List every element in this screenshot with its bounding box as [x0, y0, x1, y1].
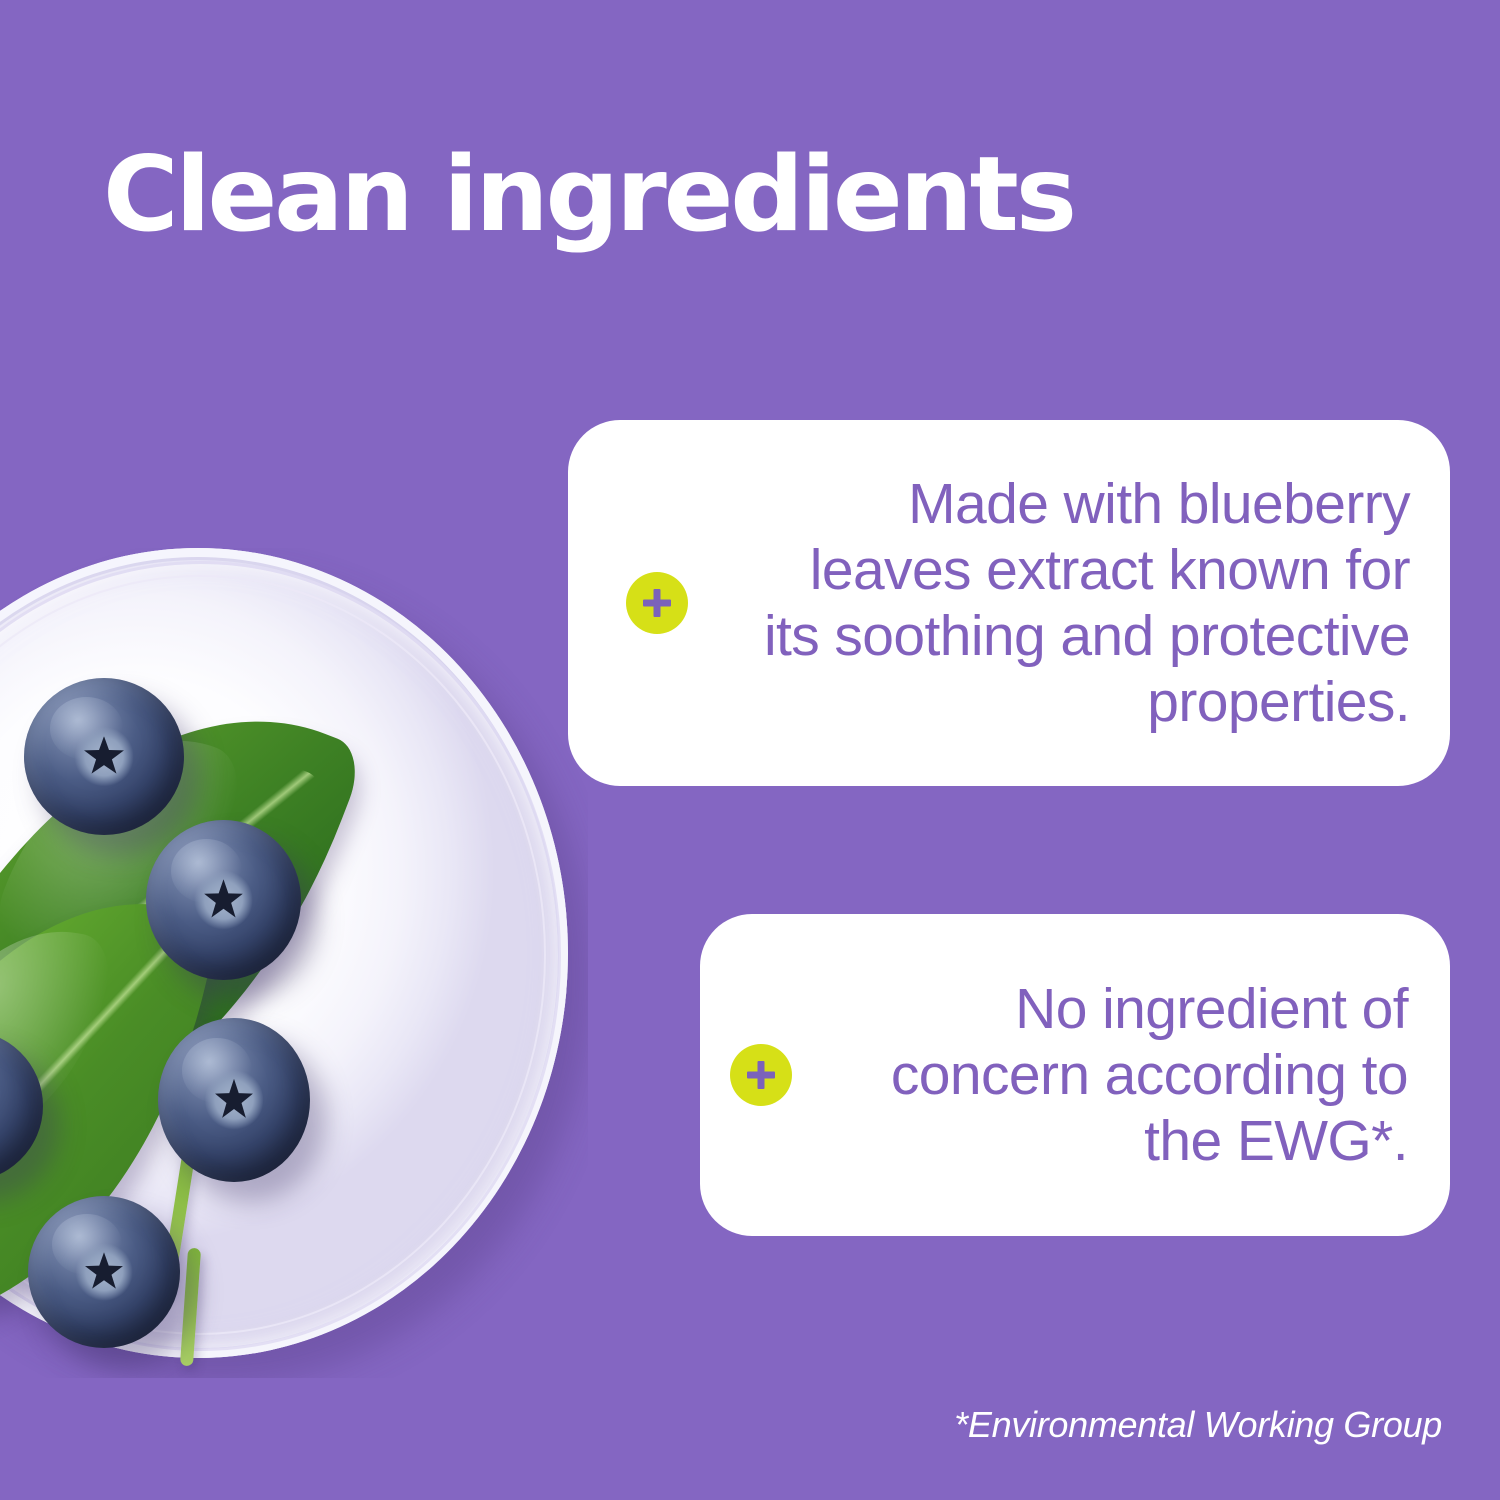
blueberry: [146, 820, 301, 980]
berry-crown: [194, 870, 253, 931]
petri-dish-inner-rim: [0, 575, 546, 1335]
petri-dish-rim: [0, 561, 561, 1351]
berry-bloom: [171, 839, 242, 903]
product-ingredients-infographic: Clean ingredients: [0, 0, 1500, 1500]
berry-calyx-star: [83, 736, 125, 777]
berry-calyx-star: [84, 1252, 124, 1292]
blueberry: [0, 1030, 43, 1182]
benefit-card-safety: No ingredient of concern according to th…: [700, 914, 1450, 1236]
blueberry-leaf: [0, 850, 221, 1375]
leaf-stem: [180, 1248, 201, 1367]
blueberry: [24, 678, 184, 835]
leaf-highlight: [0, 904, 117, 1171]
footnote-ewg-disclaimer: *Environmental Working Group: [954, 1404, 1442, 1446]
berry-bloom: [50, 697, 124, 760]
blueberry: [28, 1196, 180, 1348]
petri-dish: [0, 548, 568, 1358]
benefit-card-ingredient: Made with blueberry leaves extract known…: [568, 420, 1450, 786]
plus-icon-vertical-bar: [654, 589, 661, 617]
berry-calyx-star: [214, 1079, 254, 1122]
berry-crown: [205, 1069, 263, 1131]
benefit-card-text: Made with blueberry leaves extract known…: [688, 471, 1410, 735]
plus-icon-vertical-bar: [758, 1061, 765, 1089]
blueberry-leaf: [0, 632, 368, 1236]
benefit-card-text: No ingredient of concern according to th…: [792, 976, 1408, 1174]
berry-crown: [75, 1243, 133, 1301]
berry-calyx-star: [203, 879, 243, 921]
blueberry: [158, 1018, 310, 1182]
berry-bloom: [52, 1214, 122, 1275]
leaf-vein: [0, 678, 335, 1190]
page-title: Clean ingredients: [103, 141, 1074, 249]
blueberry-petri-dish-photo: [0, 548, 588, 1378]
leaf-highlight: [0, 695, 251, 1004]
plus-icon: [626, 572, 688, 634]
berry-bloom: [182, 1038, 252, 1104]
leaf-stem: [160, 1144, 196, 1294]
plus-icon: [730, 1044, 792, 1106]
leaf-vein: [0, 891, 195, 1335]
berry-crown: [74, 727, 135, 787]
